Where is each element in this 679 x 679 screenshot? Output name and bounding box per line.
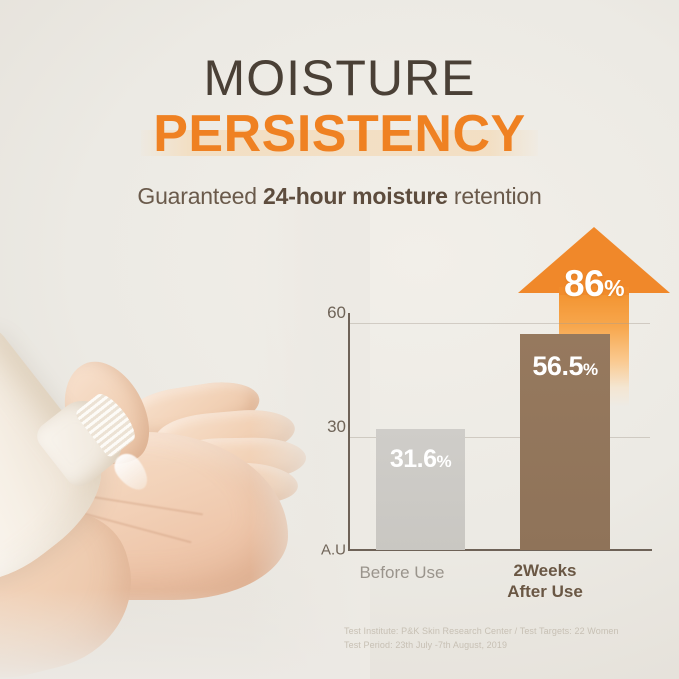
subtitle-pre: Guaranteed [137, 183, 263, 209]
y-axis-unit: A.U [321, 542, 346, 559]
bar-before-unit: % [437, 452, 452, 471]
product-photo: TIRTIR MILK SKIN TONER Moisturizing Care [0, 200, 340, 679]
subtitle-emphasis: 24-hour moisture [263, 183, 448, 209]
promo-canvas: TIRTIR MILK SKIN TONER Moisturizing Care… [0, 0, 679, 679]
bar-before-use: 31.6% [376, 429, 465, 550]
page-title-line1: MOISTURE [0, 52, 679, 104]
subtitle: Guaranteed 24-hour moisture retention [0, 183, 679, 210]
footnote: Test Institute: P&K Skin Research Center… [344, 625, 674, 652]
x-label-after-use-line2: After Use [480, 582, 610, 603]
bar-chart: 86% 60 30 A.U 31.6% 56.5% Before Use 2We… [312, 225, 679, 645]
footnote-line1: Test Institute: P&K Skin Research Center… [344, 625, 674, 639]
bar-before-value: 31.6% [376, 445, 465, 474]
x-label-after-use-line1: 2Weeks [480, 561, 610, 582]
plot-area: 31.6% 56.5% [348, 315, 668, 550]
bar-after-value: 56.5% [520, 351, 610, 382]
page-title-line2-wrap: PERSISTENCY [153, 108, 525, 161]
bar-after-number: 56.5 [532, 351, 583, 381]
x-label-after-use: 2Weeks After Use [480, 561, 610, 602]
page-title-line2: PERSISTENCY [153, 108, 525, 161]
y-tick-60: 60 [327, 303, 346, 323]
title-block: MOISTURE PERSISTENCY Guaranteed 24-hour … [0, 52, 679, 210]
improvement-unit: % [604, 275, 624, 301]
bar-after-unit: % [583, 360, 598, 379]
subtitle-post: retention [448, 183, 542, 209]
footnote-line2: Test Period: 23th July -7th August, 2019 [344, 639, 674, 653]
improvement-badge: 86% [518, 263, 670, 305]
photo-fade-bottom [0, 589, 360, 679]
x-label-before-use: Before Use [342, 563, 462, 584]
improvement-value: 86 [564, 263, 604, 304]
y-tick-30: 30 [327, 417, 346, 437]
bar-before-number: 31.6 [390, 445, 437, 473]
bar-after-use: 56.5% [520, 334, 610, 550]
